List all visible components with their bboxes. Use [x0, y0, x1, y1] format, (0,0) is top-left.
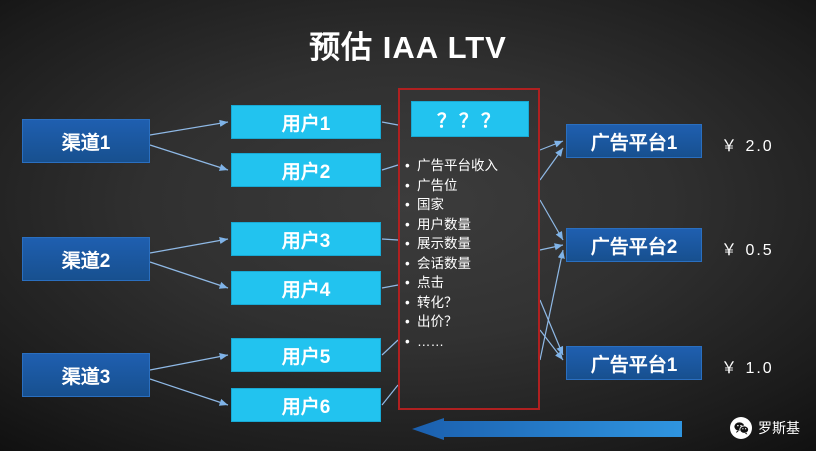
wechat-icon [730, 417, 752, 439]
node-label: 广告平台2 [591, 232, 678, 259]
node-channel-2[interactable]: 渠道2 [22, 237, 150, 281]
price-label-1: ￥ 2.0 [721, 132, 774, 156]
slide-canvas: 预估 IAA LTV [0, 0, 816, 451]
node-user-3[interactable]: 用户3 [231, 222, 381, 256]
node-label: 广告平台1 [591, 350, 678, 377]
node-label: 用户3 [282, 226, 331, 253]
list-item: •转化？ [405, 293, 537, 313]
price-label-3: ￥ 1.0 [721, 354, 774, 378]
node-user-2[interactable]: 用户2 [231, 153, 381, 187]
node-ad-platform-2[interactable]: 广告平台2 [566, 228, 702, 262]
list-item: •广告位 [405, 176, 537, 196]
list-item: •广告平台收入 [405, 156, 537, 176]
page-title: 预估 IAA LTV [0, 22, 816, 67]
list-item-label: 出价？ [417, 312, 458, 332]
list-item-label: 广告位 [417, 176, 458, 196]
node-label: 用户2 [282, 157, 331, 184]
list-item-label: 国家 [417, 195, 444, 215]
bullet-icon: • [405, 195, 417, 215]
node-user-6[interactable]: 用户6 [231, 388, 381, 422]
node-user-4[interactable]: 用户4 [231, 271, 381, 305]
bullet-icon: • [405, 156, 417, 176]
bullet-icon: • [405, 332, 417, 352]
feedback-arrow-icon [412, 418, 682, 440]
model-feature-list: •广告平台收入 •广告位 •国家 •用户数量 •展示数量 •会话数量 •点击 •… [405, 156, 537, 351]
list-item: •出价？ [405, 312, 537, 332]
list-item-label: 点击 [417, 273, 444, 293]
bullet-icon: • [405, 273, 417, 293]
bullet-icon: • [405, 312, 417, 332]
node-channel-3[interactable]: 渠道3 [22, 353, 150, 397]
list-item-label: 转化？ [417, 293, 458, 313]
node-user-1[interactable]: 用户1 [231, 105, 381, 139]
node-ad-platform-3[interactable]: 广告平台1 [566, 346, 702, 380]
node-user-5[interactable]: 用户5 [231, 338, 381, 372]
node-label: 渠道2 [62, 246, 111, 273]
list-item: •展示数量 [405, 234, 537, 254]
list-item: •会话数量 [405, 254, 537, 274]
bullet-icon: • [405, 234, 417, 254]
list-item-label: 会话数量 [417, 254, 471, 274]
list-item-label: …… [417, 332, 444, 352]
bullet-icon: • [405, 176, 417, 196]
node-ad-platform-1[interactable]: 广告平台1 [566, 124, 702, 158]
bullet-icon: • [405, 215, 417, 235]
list-item: •点击 [405, 273, 537, 293]
node-label: 用户5 [282, 342, 331, 369]
bullet-icon: • [405, 254, 417, 274]
list-item-label: 用户数量 [417, 215, 471, 235]
list-item: •…… [405, 332, 537, 352]
price-label-2: ￥ 0.5 [721, 236, 774, 260]
list-item-label: 广告平台收入 [417, 156, 498, 176]
brand-name: 罗斯基 [758, 418, 800, 438]
node-label: 渠道3 [62, 362, 111, 389]
node-channel-1[interactable]: 渠道1 [22, 119, 150, 163]
list-item: •用户数量 [405, 215, 537, 235]
node-unknown-model[interactable]: ？？？ [411, 101, 529, 137]
node-label: ？？？ [437, 106, 503, 133]
node-label: 用户6 [282, 392, 331, 419]
node-label: 广告平台1 [591, 128, 678, 155]
list-item-label: 展示数量 [417, 234, 471, 254]
list-item: •国家 [405, 195, 537, 215]
bullet-icon: • [405, 293, 417, 313]
node-label: 渠道1 [62, 128, 111, 155]
node-label: 用户4 [282, 275, 331, 302]
node-label: 用户1 [282, 109, 331, 136]
brand-logo: 罗斯基 [730, 417, 800, 439]
